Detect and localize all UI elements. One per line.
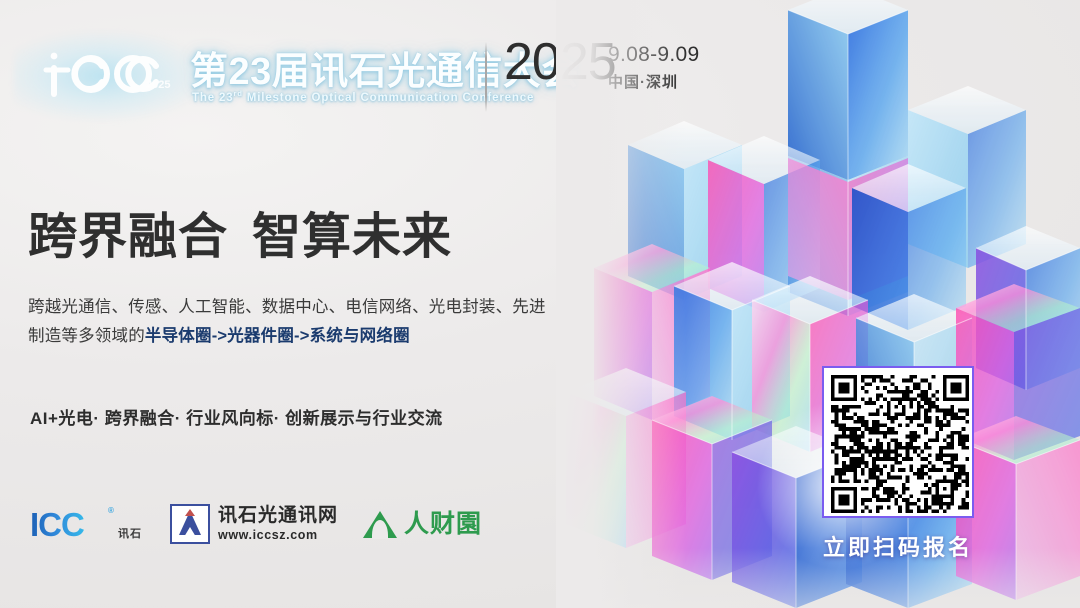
main-headline: 跨界融合智算未来: [28, 197, 452, 268]
poster-tagline: AI+光电· 跨界融合· 行业风向标· 创新展示与行业交流: [30, 404, 443, 429]
iccsz-logo[interactable]: 讯石光通讯网 www.iccsz.com: [170, 504, 345, 544]
green-mountain-icon: [363, 509, 397, 539]
qr-code[interactable]: [831, 375, 969, 513]
conference-dates: 9.08-9.09: [608, 44, 699, 66]
industry-chain-text: 半导体圈->光器件圈->系统与网络圈: [145, 327, 410, 345]
svg-text:2025: 2025: [146, 79, 170, 91]
header-divider: [485, 42, 487, 112]
conference-location: 中国·深圳: [608, 71, 699, 92]
mountain-icon: [170, 504, 210, 544]
icc-logo[interactable]: ICC ® 讯石: [30, 502, 148, 546]
ifoc-logo: 2025 2025: [28, 42, 188, 108]
conference-poster: 2025 2025 第23届讯石光通信大会 The 23rd Milestone…: [0, 0, 1080, 608]
poster-header: 2025 2025 第23届讯石光通信大会 The 23rd Milestone…: [0, 36, 720, 116]
qr-caption: 立即扫码报名: [822, 530, 974, 562]
date-location-block: 9.08-9.09 中国·深圳: [608, 44, 699, 92]
description-line-1: 跨越光通信、传感、人工智能、数据中心、电信网络、光电封: [28, 298, 479, 316]
headline-part-2: 智算未来: [252, 210, 452, 264]
title-en-sup: rd: [234, 89, 243, 98]
mountain-notch-shape: [184, 527, 196, 537]
title-en-rest: Milestone Optical Communication Conferen…: [243, 92, 535, 104]
rencaiyuan-logo[interactable]: 人财園: [363, 509, 482, 539]
mountain-tip-shape: [185, 509, 195, 516]
iccsz-cn-label: 讯石光通讯网: [218, 506, 338, 526]
conference-title-en: The 23rd Milestone Optical Communication…: [192, 89, 534, 104]
qr-registration-block[interactable]: 立即扫码报名: [822, 366, 974, 562]
description-paragraph: 跨越光通信、传感、人工智能、数据中心、电信网络、光电封装、先进制造等多领域的半导…: [28, 293, 548, 351]
headline-part-1: 跨界融合: [28, 210, 228, 264]
qr-code-frame[interactable]: [822, 366, 974, 518]
icc-wordmark: ICC: [30, 508, 84, 541]
ifoc-logo-mark: 2025: [28, 44, 188, 102]
registered-mark-icon: ®: [108, 506, 114, 515]
rencaiyuan-cn-label: 人财園: [404, 512, 482, 537]
title-en-prefix: The 23: [192, 92, 234, 104]
conference-year: 2025: [504, 36, 616, 88]
icc-cn-label: 讯石: [118, 525, 142, 541]
sponsor-logo-row: ICC ® 讯石 讯石光通讯网 www.iccsz.com 人财園: [30, 498, 482, 550]
iccsz-url: www.iccsz.com: [218, 528, 338, 542]
iccsz-text-block: 讯石光通讯网 www.iccsz.com: [218, 506, 338, 542]
